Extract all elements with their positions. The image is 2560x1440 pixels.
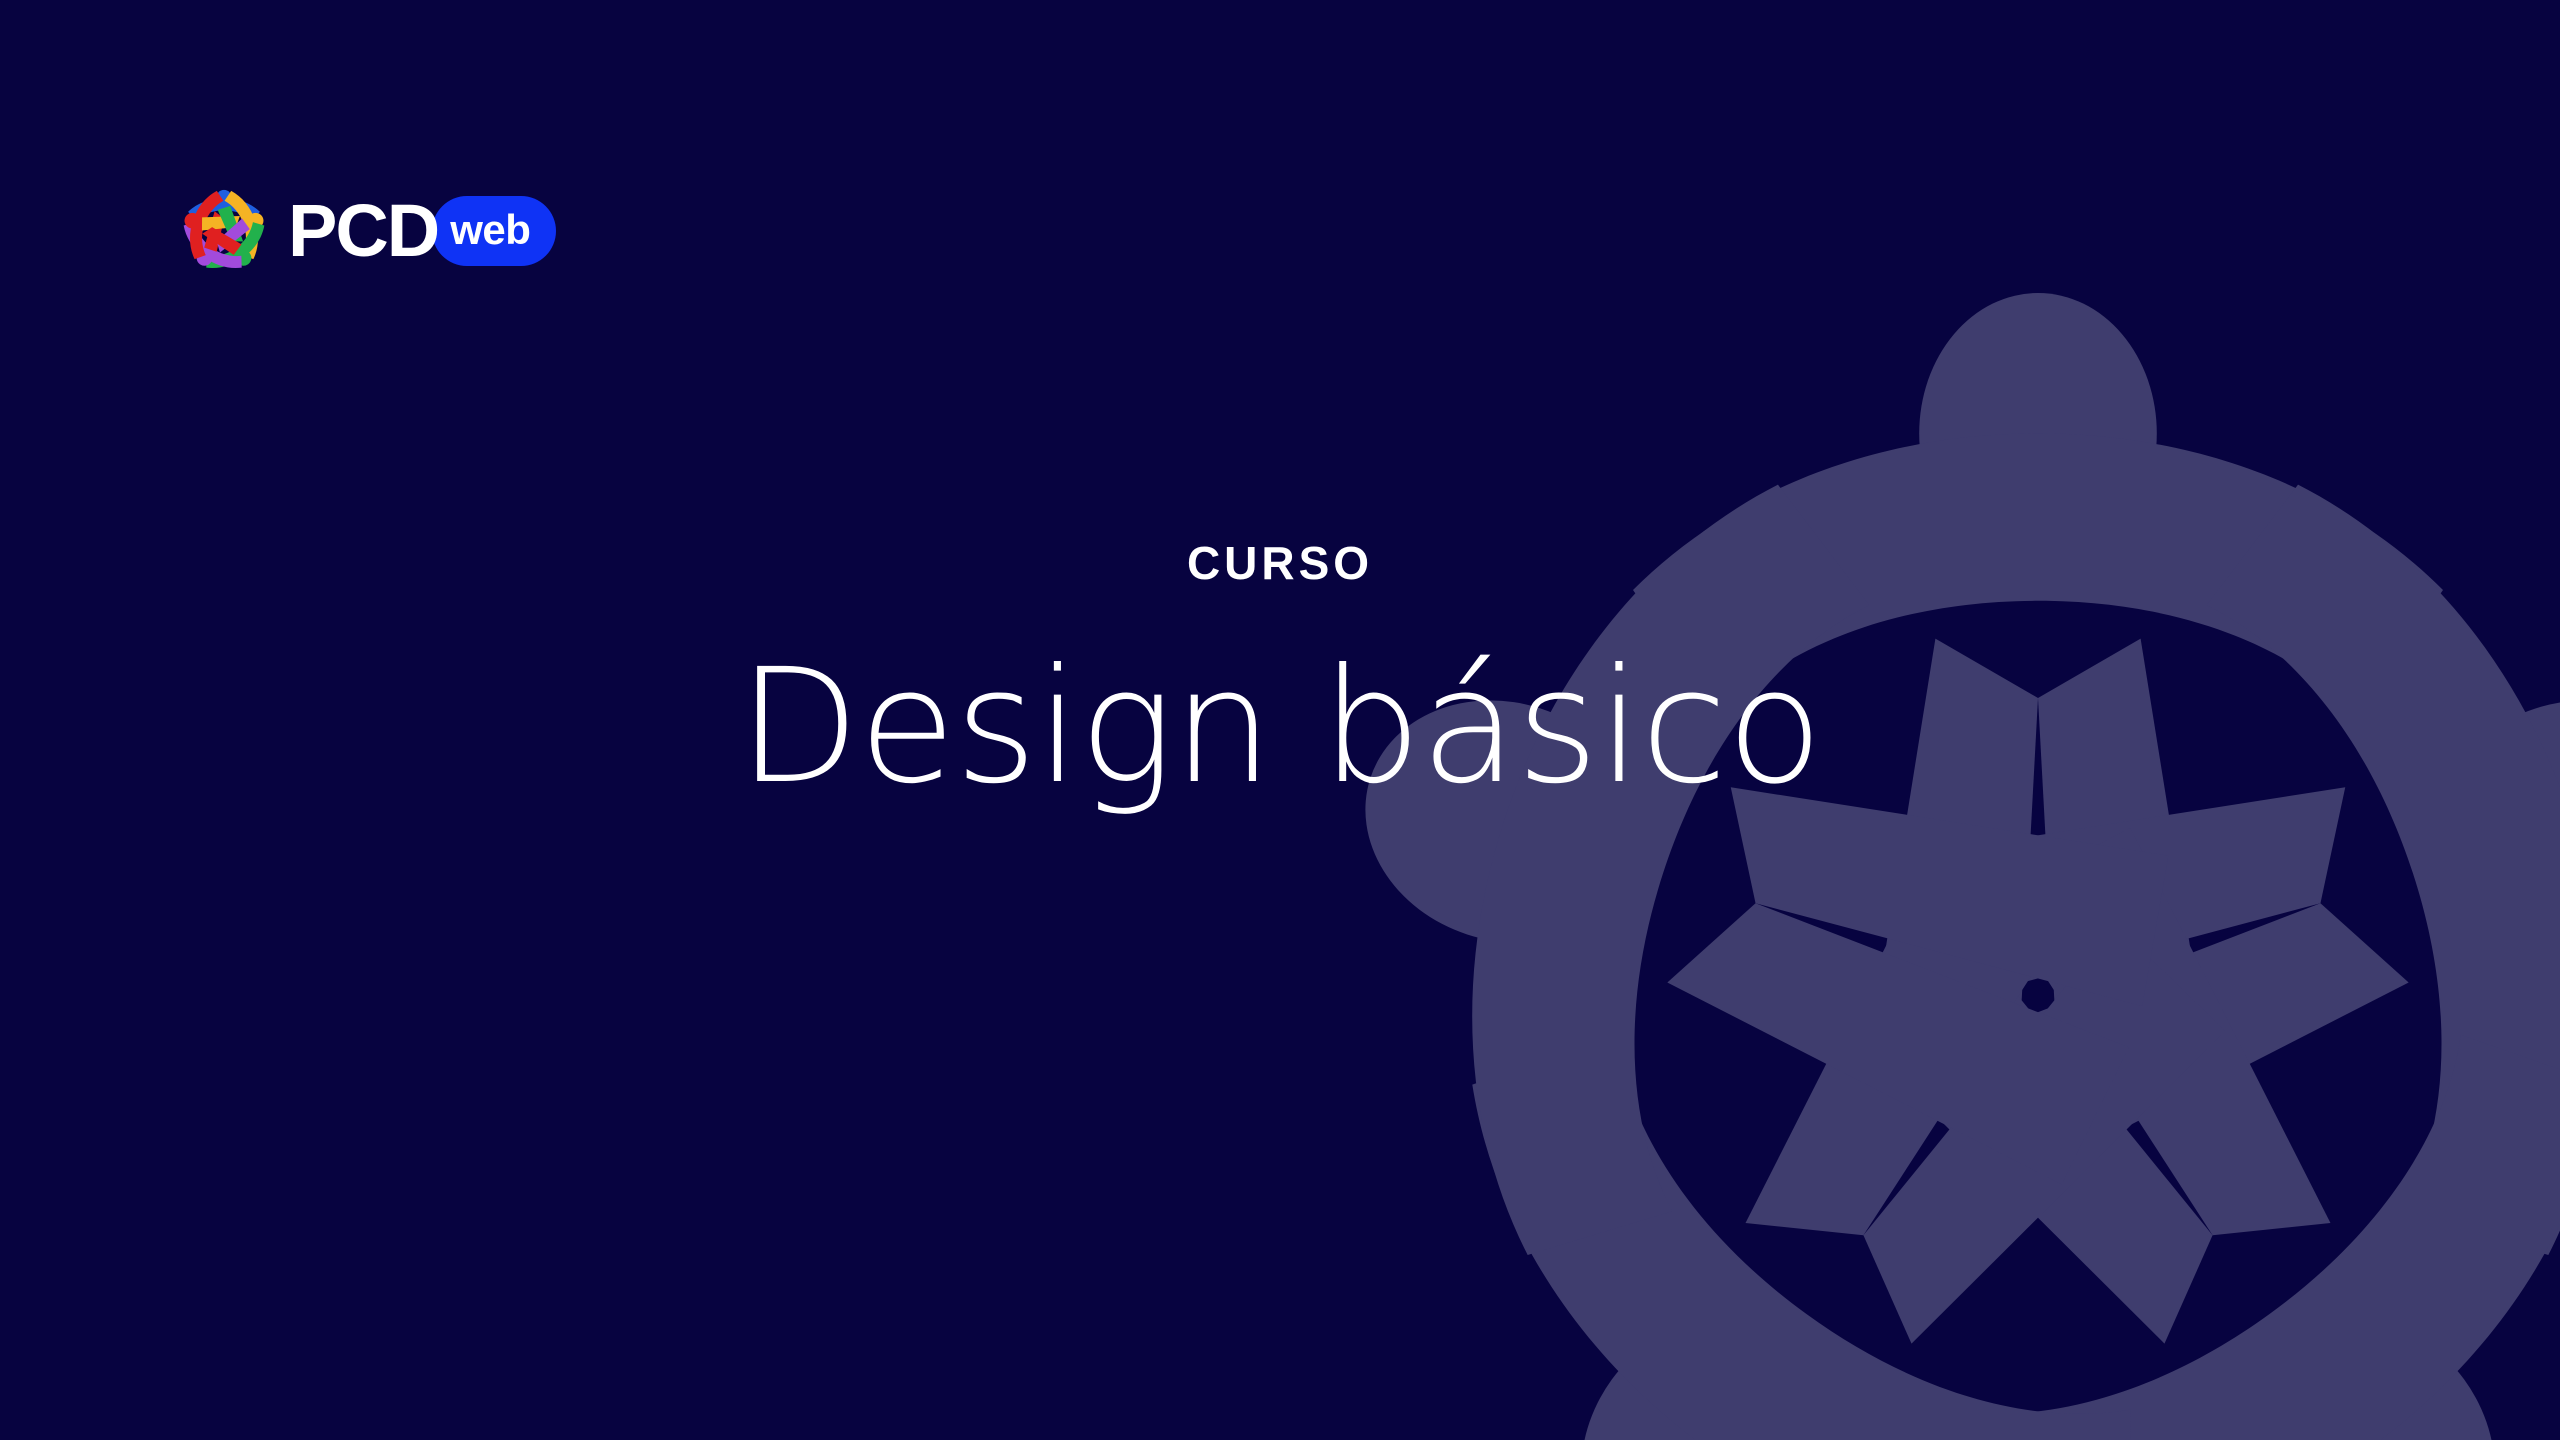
hero-title: Design básico: [0, 648, 2560, 806]
pcdweb-logo[interactable]: PCD web: [172, 176, 556, 286]
hero-eyebrow: CURSO: [0, 540, 2560, 586]
pcdweb-wordmark: PCD web: [288, 194, 556, 268]
watermark-people-group: [1245, 293, 2560, 1440]
brand-name-pcd: PCD: [288, 194, 442, 268]
pcd-people-circle-icon: [172, 179, 276, 283]
brand-suffix-web-badge: web: [432, 196, 556, 266]
slide-canvas: PCD web CURSO Design básico: [0, 0, 2560, 1440]
hero-text-block: CURSO Design básico: [0, 540, 2560, 806]
